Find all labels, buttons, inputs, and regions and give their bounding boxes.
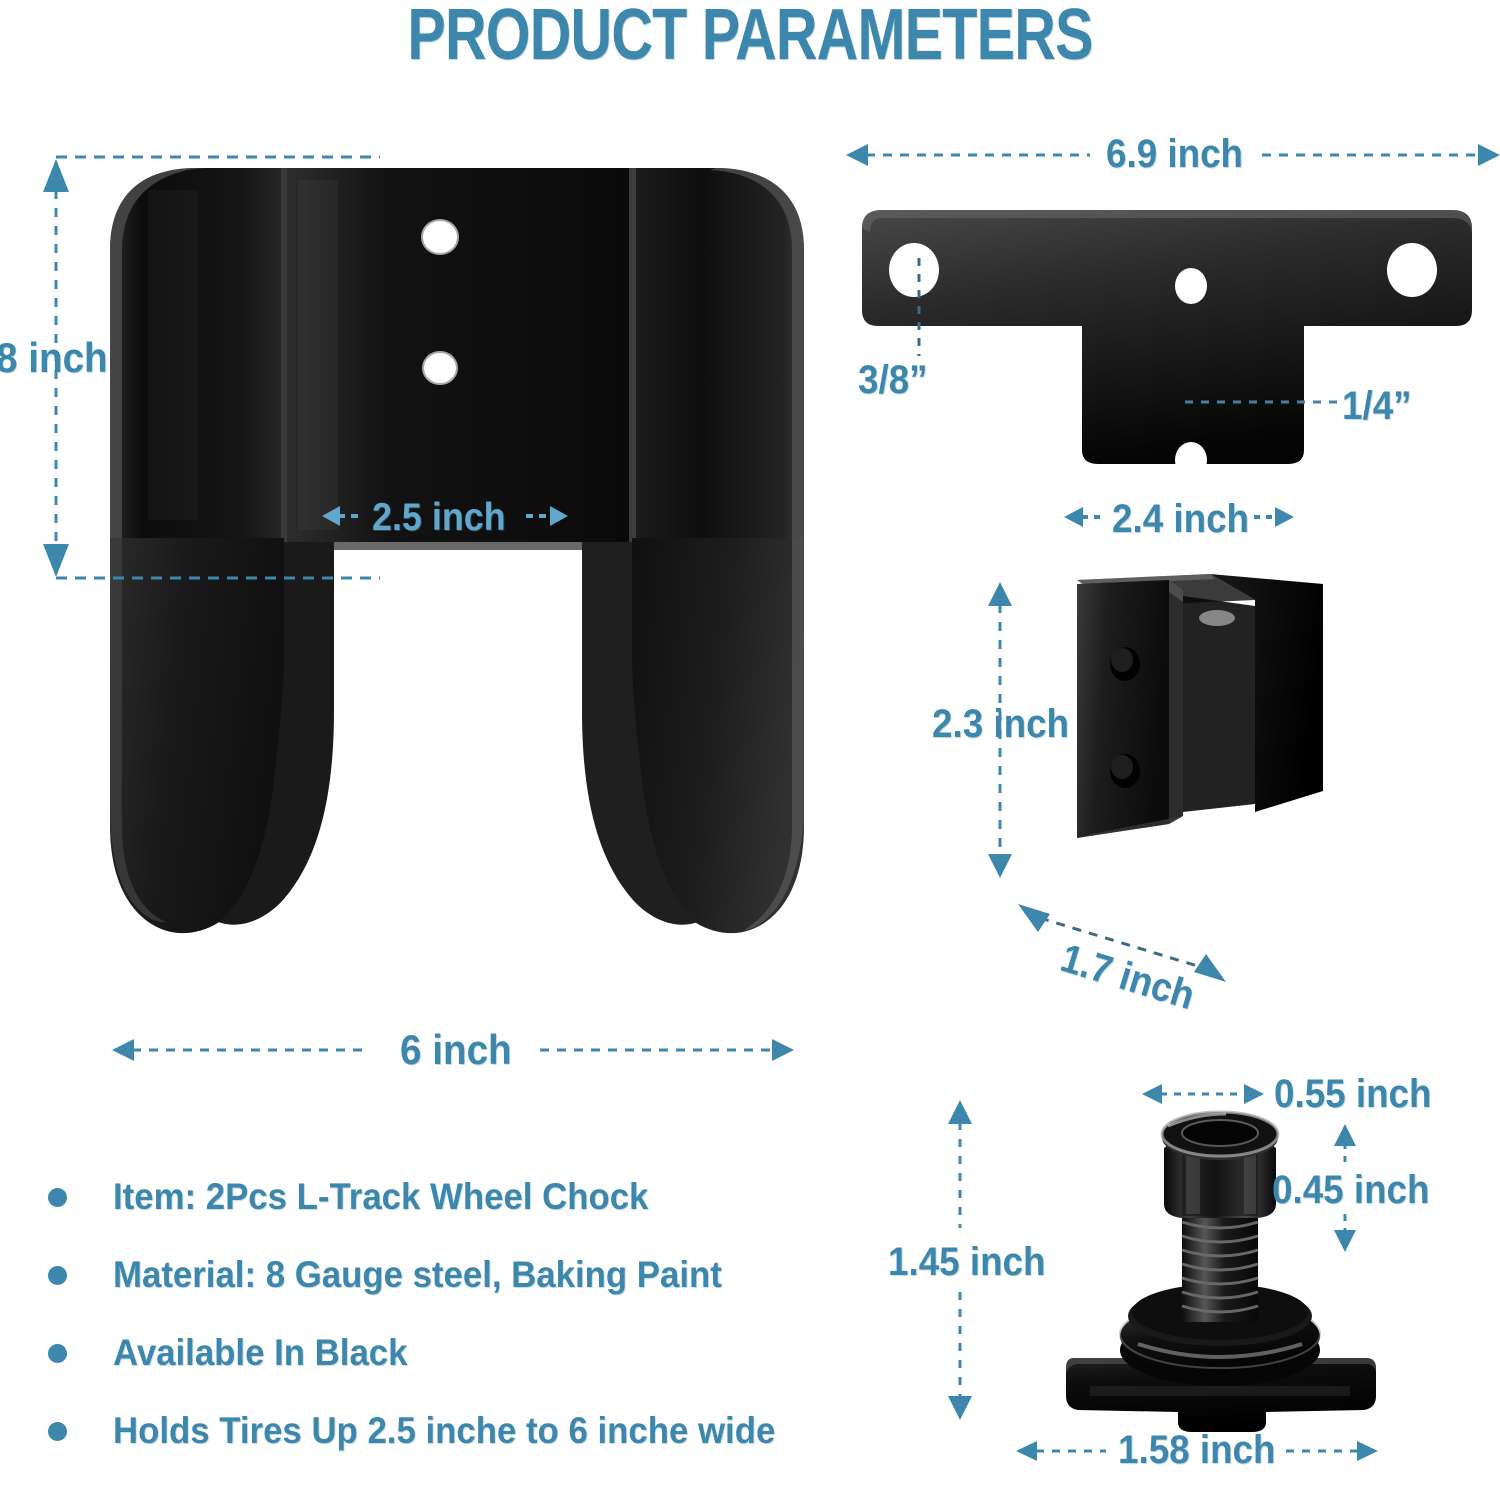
infographic-canvas: PRODUCT PARAMETERS [0, 0, 1500, 1490]
spec-label: Material: 8 Gauge steel, Baking Paint [113, 1254, 722, 1296]
bullet-dot-icon [48, 1188, 67, 1207]
page-title: PRODUCT PARAMETERS [150, 0, 1350, 76]
list-item: Holds Tires Up 2.5 inche to 6 inche wide [48, 1392, 928, 1470]
l-bracket-illustration [1065, 566, 1345, 896]
list-item: Item: 2Pcs L-Track Wheel Chock [48, 1158, 928, 1236]
l-bracket-height-label: 2.3 inch [932, 702, 1069, 747]
bolt-nut-height-label: 0.45 inch [1272, 1168, 1430, 1213]
t-bracket-big-hole-label: 3/8” [858, 358, 928, 403]
bullet-dot-icon [48, 1422, 67, 1441]
t-bracket-illustration [852, 206, 1500, 476]
spec-list: Item: 2Pcs L-Track Wheel Chock Material:… [48, 1158, 928, 1470]
spec-label: Available In Black [113, 1332, 407, 1374]
t-bracket-stem-label: 2.4 inch [1112, 497, 1249, 542]
bolt-nut-width-dimension [1140, 1078, 1266, 1110]
t-bracket-big-hole-leader [904, 258, 934, 358]
bolt-base-width-label: 1.58 inch [1118, 1428, 1276, 1473]
t-bracket-width-label: 6.9 inch [1106, 132, 1243, 177]
bolt-nut-width-label: 0.55 inch [1274, 1072, 1432, 1117]
list-item: Available In Black [48, 1314, 928, 1392]
bullet-dot-icon [48, 1344, 67, 1363]
spec-label: Holds Tires Up 2.5 inche to 6 inche wide [113, 1410, 775, 1452]
list-item: Material: 8 Gauge steel, Baking Paint [48, 1236, 928, 1314]
chock-throat-label: 2.5 inch [372, 496, 506, 540]
spec-label: Item: 2Pcs L-Track Wheel Chock [113, 1176, 648, 1218]
t-bracket-small-hole-label: 1/4” [1342, 384, 1412, 429]
chock-height-label: 8 inch [0, 334, 108, 382]
chock-width-label: 6 inch [400, 1026, 512, 1074]
t-bracket-small-hole-leader [1185, 390, 1340, 414]
bullet-dot-icon [48, 1266, 67, 1285]
